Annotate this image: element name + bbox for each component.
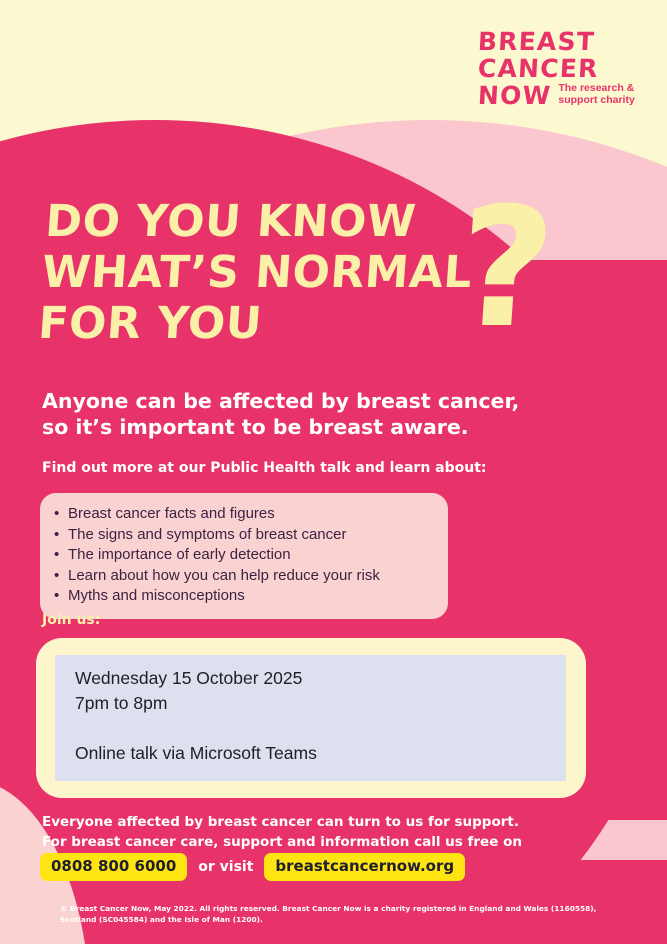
logo-line-now-row: NOW The research & support charity [478, 82, 658, 109]
logo-tagline: The research & support charity [558, 83, 634, 109]
list-item: • Learn about how you can help reduce yo… [54, 566, 434, 587]
list-item-label: Breast cancer facts and figures [68, 504, 275, 525]
headline-line-3: FOR YOU [37, 298, 511, 349]
copyright-line-2: Scotland (SC045584) and the Isle of Man … [60, 914, 620, 925]
contact-row: 0808 800 6000 or visit breastcancernow.o… [40, 853, 465, 881]
support-message: Everyone affected by breast cancer can t… [42, 812, 522, 852]
support-message-line-2: For breast cancer care, support and info… [42, 832, 522, 852]
find-out-more-text: Find out more at our Public Health talk … [42, 459, 487, 477]
headline: DO YOU KNOW WHAT’S NORMAL FOR YOU [37, 196, 518, 349]
brand-logo: BREAST CANCER NOW The research & support… [478, 28, 658, 109]
event-time: 7pm to 8pm [75, 691, 566, 716]
phone-number-pill[interactable]: 0808 800 6000 [40, 853, 187, 881]
bullet-marker-icon: • [54, 525, 68, 546]
list-item: • The signs and symptoms of breast cance… [54, 525, 434, 546]
event-date: Wednesday 15 October 2025 [75, 666, 566, 691]
logo-line-breast: BREAST [477, 28, 658, 55]
list-item-label: Myths and misconceptions [68, 586, 245, 607]
subheading-line-1: Anyone can be affected by breast cancer, [42, 388, 562, 414]
logo-line-now: NOW [477, 82, 552, 109]
list-item-label: The importance of early detection [68, 545, 291, 566]
copyright-line-1: © Breast Cancer Now, May 2022. All right… [60, 903, 620, 914]
logo-line-cancer: CANCER [477, 55, 658, 82]
subheading: Anyone can be affected by breast cancer,… [42, 388, 562, 440]
logo-tagline-line2: support charity [558, 95, 634, 107]
headline-line-1: DO YOU KNOW [44, 196, 518, 247]
bullet-marker-icon: • [54, 545, 68, 566]
bullet-marker-icon: • [54, 586, 68, 607]
bullet-list-box: • Breast cancer facts and figures • The … [40, 493, 448, 619]
headline-line-2: WHAT’S NORMAL [40, 247, 514, 298]
event-format: Online talk via Microsoft Teams [75, 741, 566, 766]
subheading-line-2: so it’s important to be breast aware. [42, 414, 562, 440]
bullet-marker-icon: • [54, 504, 68, 525]
poster-canvas: BREAST CANCER NOW The research & support… [0, 0, 667, 944]
website-pill[interactable]: breastcancernow.org [264, 853, 465, 881]
copyright-smallprint: © Breast Cancer Now, May 2022. All right… [60, 903, 620, 925]
question-mark-icon: ? [452, 186, 559, 351]
list-item-label: Learn about how you can help reduce your… [68, 566, 380, 587]
bullet-marker-icon: • [54, 566, 68, 587]
logo-tagline-line1: The research & [558, 83, 634, 95]
list-item-label: The signs and symptoms of breast cancer [68, 525, 346, 546]
list-item: • Myths and misconceptions [54, 586, 434, 607]
event-details-field: Wednesday 15 October 2025 7pm to 8pm Onl… [55, 655, 566, 781]
or-visit-label: or visit [198, 859, 253, 875]
support-message-line-1: Everyone affected by breast cancer can t… [42, 812, 522, 832]
list-item: • The importance of early detection [54, 545, 434, 566]
event-spacer [75, 716, 566, 741]
event-details-box: Wednesday 15 October 2025 7pm to 8pm Onl… [36, 638, 586, 798]
join-us-label: Join us: [42, 611, 100, 629]
list-item: • Breast cancer facts and figures [54, 504, 434, 525]
